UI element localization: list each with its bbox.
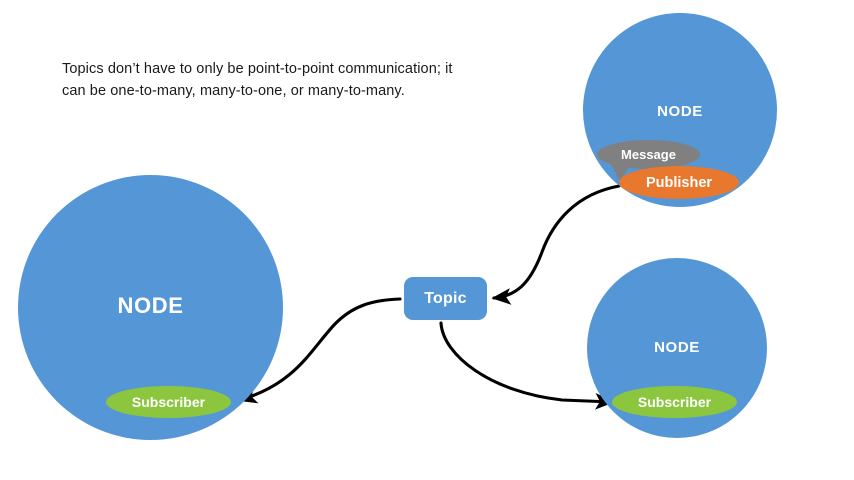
- node-publisher-label: NODE: [583, 103, 777, 120]
- caption-line-1: Topics don’t have to only be point-to-po…: [62, 61, 453, 77]
- subscriber-left-label: Subscriber: [132, 394, 205, 410]
- arrow-publisher-to-topic: [494, 186, 619, 298]
- topic-label: Topic: [424, 290, 466, 308]
- message-bubble[interactable]: Message: [597, 140, 700, 169]
- diagram-canvas: Topics don’t have to only be point-to-po…: [0, 0, 854, 480]
- publisher-oval[interactable]: Publisher: [619, 166, 739, 199]
- publisher-label: Publisher: [646, 175, 712, 191]
- subscriber-oval-right[interactable]: Subscriber: [612, 386, 737, 418]
- caption-line-2: can be one-to-many, many-to-one, or many…: [62, 83, 405, 99]
- node-subscriber-right-label: NODE: [587, 339, 767, 356]
- arrow-topic-to-subscriber-right: [441, 323, 612, 402]
- subscriber-right-label: Subscriber: [638, 394, 711, 410]
- subscriber-oval-left[interactable]: Subscriber: [106, 386, 231, 418]
- message-label: Message: [621, 147, 676, 162]
- caption-text: Topics don’t have to only be point-to-po…: [62, 58, 482, 103]
- topic-box[interactable]: Topic: [404, 277, 487, 320]
- node-subscriber-left-label: NODE: [18, 293, 283, 319]
